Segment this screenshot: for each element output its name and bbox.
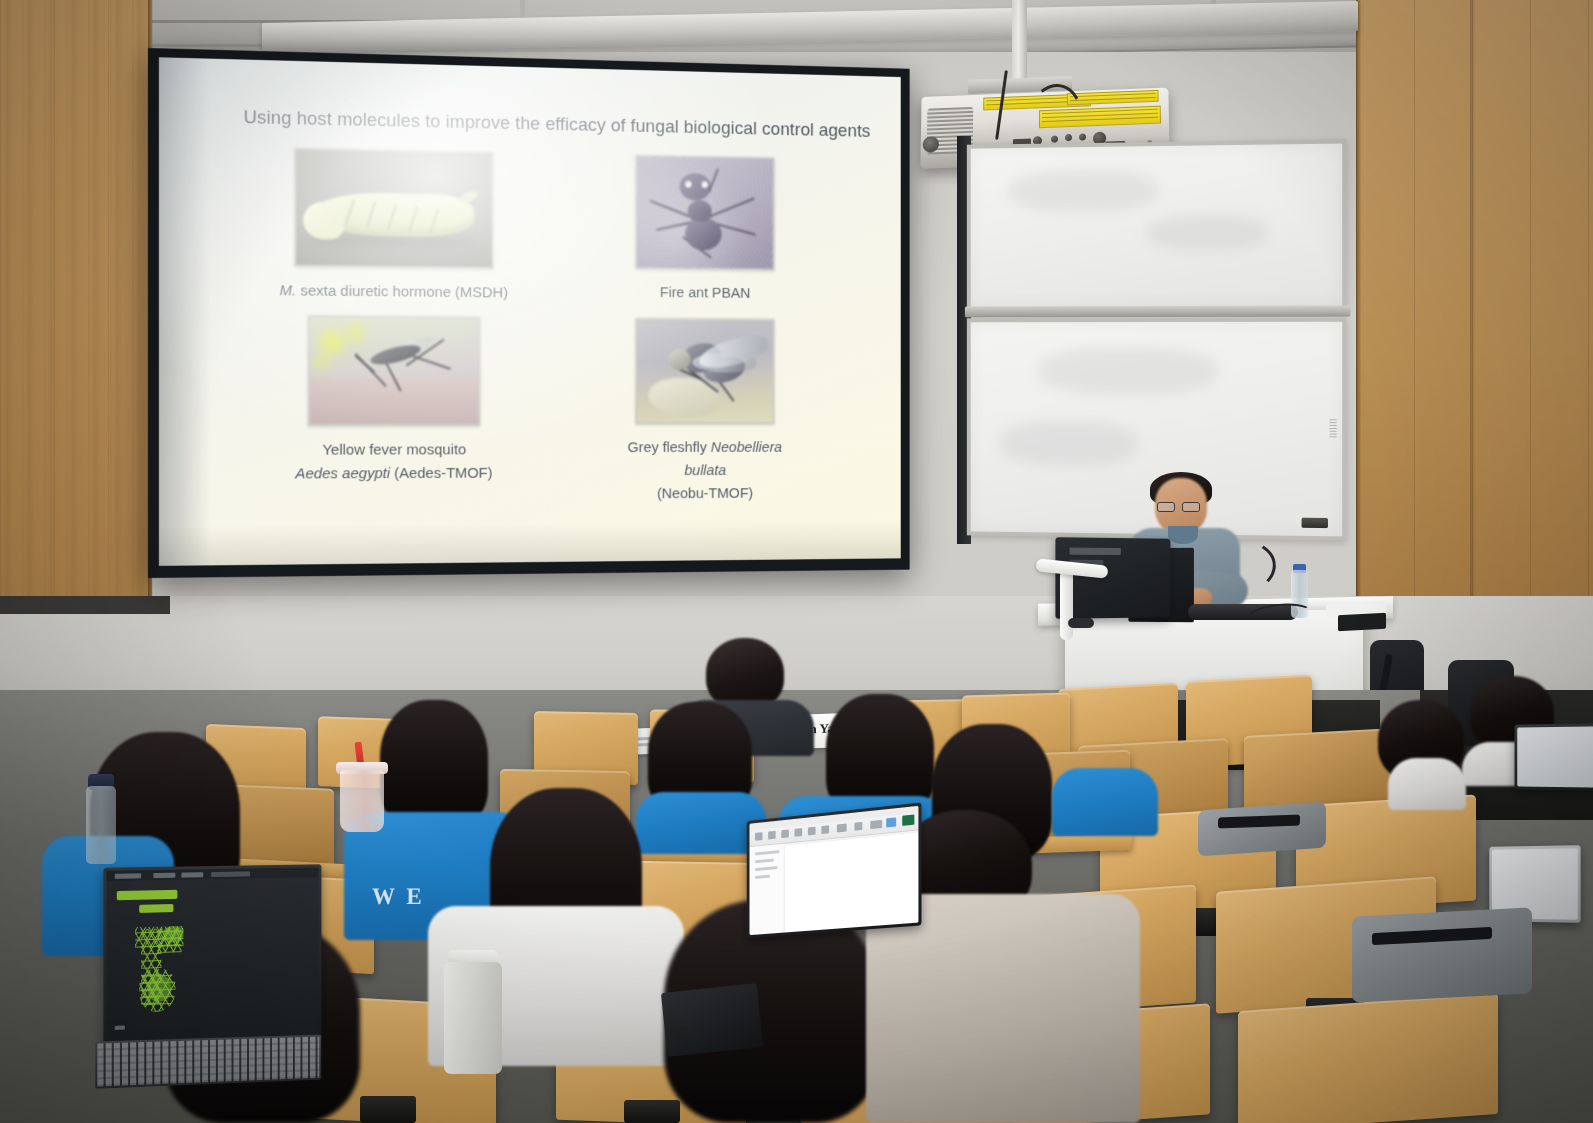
audience-head (380, 700, 488, 828)
fire-ant-photo (635, 155, 774, 270)
lecture-hall-scene: Using host molecules to improve the effi… (0, 0, 1593, 1123)
audience-torso (1388, 758, 1466, 810)
slide-content: Using host molecules to improve the effi… (202, 72, 890, 555)
baseboard (0, 596, 170, 614)
monitor-arm-post (1060, 570, 1073, 640)
caption-neobu: Grey fleshfly Neobelliera bullata (Neobu… (613, 436, 796, 506)
slide-cell-neobu: Grey fleshfly Neobelliera bullata (Neobu… (613, 318, 796, 506)
slide-title: Using host molecules to improve the effi… (244, 107, 890, 143)
laptop-mesh-app[interactable] (103, 864, 321, 1052)
whiteboard-rail (965, 306, 1351, 318)
audience-torso (1052, 768, 1158, 836)
manduca-sexta-caterpillar-photo (294, 148, 493, 269)
tablet-device[interactable] (661, 983, 763, 1057)
slide-image-grid: M. sexta diuretic hormone (MSDH) (259, 147, 890, 508)
laptop-screen-document (750, 806, 919, 935)
caption-pban: Fire ant PBAN (660, 282, 751, 306)
slide-cell-pban: Fire ant PBAN (613, 154, 796, 307)
grey-laptop-bag (1352, 907, 1532, 1002)
projector-button[interactable] (1065, 134, 1072, 141)
projector-button[interactable] (1051, 135, 1058, 142)
wall-seam (1470, 0, 1475, 700)
wood-wall-panel-left (0, 0, 152, 640)
desk-phone[interactable] (1338, 613, 1386, 632)
presenter-glasses-icon (1157, 502, 1175, 512)
whiteboard-eraser[interactable] (1302, 518, 1328, 528)
cable-puck (1068, 618, 1094, 628)
grey-fleshfly-photo (635, 318, 774, 424)
projected-slide: Using host molecules to improve the effi… (159, 57, 901, 566)
whiteboard-upper (967, 139, 1346, 310)
presenter-glasses-icon (1182, 502, 1200, 512)
slide-cell-msdh: M. sexta diuretic hormone (MSDH) (259, 147, 527, 305)
laptop-right-edge[interactable] (1514, 723, 1593, 790)
caption-aedes: Yellow fever mosquito Aedes aegypti (Aed… (295, 439, 492, 487)
projection-screen: Using host molecules to improve the effi… (148, 48, 910, 578)
thermos-flask (444, 962, 502, 1074)
grey-laptop-bag (1198, 802, 1326, 857)
yellow-fever-mosquito-photo (308, 315, 480, 426)
laptop-screen-mesh-viewer (106, 867, 318, 1049)
water-bottle (86, 786, 116, 864)
projector-button[interactable] (1079, 133, 1086, 140)
lecture-seat[interactable] (1238, 993, 1498, 1123)
seat-base (624, 1100, 680, 1123)
laptop-document-app[interactable] (747, 802, 922, 938)
laptop-keyboard[interactable] (95, 1035, 321, 1089)
whiteboard-side-label: ||||||| (1329, 419, 1336, 439)
audience-torso (866, 894, 1140, 1123)
projector-mount-pole (1012, 0, 1027, 82)
shirt-logo: W E (372, 884, 425, 910)
presenter-collar (1168, 526, 1198, 544)
bubble-tea-cup (340, 770, 384, 832)
slide-cell-aedes: Yellow fever mosquito Aedes aegypti (Aed… (259, 315, 527, 508)
seat-base (360, 1096, 416, 1123)
caption-msdh: M. sexta diuretic hormone (MSDH) (279, 279, 507, 305)
